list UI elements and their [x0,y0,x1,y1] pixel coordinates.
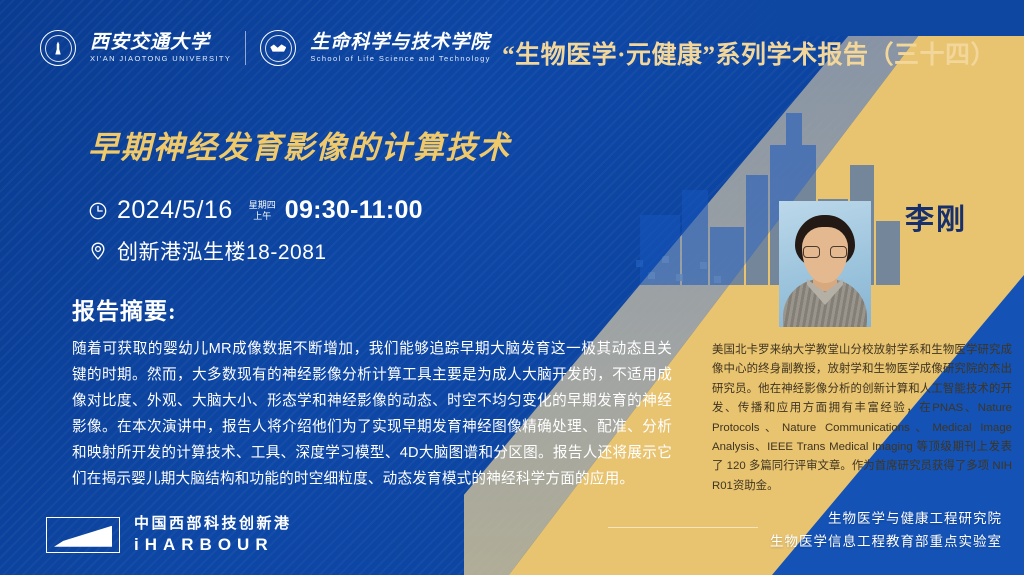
organizer-line-1: 生物医学与健康工程研究院 [770,507,1002,530]
lecture-daypart: 上午 [253,211,271,221]
speaker-name: 李刚 [905,205,967,236]
school-crest-icon [260,30,296,66]
lecture-date: 2024/5/16 [117,196,233,225]
lecture-location: 创新港泓生楼18-2081 [117,236,327,266]
poster-header: 西安交通大学 XI'AN JIAOTONG UNIVERSITY 生命科学与技术… [40,30,1004,80]
university-name-cn: 西安交通大学 [90,33,231,53]
clock-icon [88,201,108,221]
organizer-line-2: 生物医学信息工程教育部重点实验室 [770,530,1002,553]
lecture-weekday-block: 星期四 上午 [249,200,276,221]
series-title: “生物医学·元健康”系列学术报告（三十四） [502,35,996,71]
iharbour-name-en: iHARBOUR [134,535,292,555]
speaker-bio: 美国北卡罗来纳大学教堂山分校放射学系和生物医学研究成像中心的终身副教授，放射学和… [712,341,1012,496]
institution-logos: 西安交通大学 XI'AN JIAOTONG UNIVERSITY 生命科学与技术… [40,30,491,66]
school-name-cn: 生命科学与技术学院 [310,33,491,53]
school-name-en: School of Life Science and Technology [310,54,491,63]
lecture-weekday: 星期四 [249,200,276,210]
lecture-title: 早期神经发育影像的计算技术 [88,122,511,167]
abstract-heading: 报告摘要: [72,292,177,326]
seminar-poster: 西安交通大学 XI'AN JIAOTONG UNIVERSITY 生命科学与技术… [0,0,1024,575]
logo-divider [245,31,246,65]
lecture-location-row: 创新港泓生楼18-2081 [88,236,327,266]
lecture-time: 09:30-11:00 [285,196,423,225]
iharbour-name-cn: 中国西部科技创新港 [134,515,292,533]
location-pin-icon [88,241,108,261]
iharbour-logo: 中国西部科技创新港 iHARBOUR [46,515,292,555]
speaker-photo [779,201,871,327]
speaker-glasses-icon [803,246,847,258]
lecture-datetime: 2024/5/16 星期四 上午 09:30-11:00 [88,196,423,225]
abstract-text: 随着可获取的婴幼儿MR成像数据不断增加，我们能够追踪早期大脑发育这一极其动态且关… [72,336,672,492]
organizer-block: 生物医学与健康工程研究院 生物医学信息工程教育部重点实验室 [770,507,1002,553]
organizer-rule [608,527,758,528]
university-name-en: XI'AN JIAOTONG UNIVERSITY [90,54,231,63]
sail-mark-icon [46,517,120,553]
university-crest-icon [40,30,76,66]
